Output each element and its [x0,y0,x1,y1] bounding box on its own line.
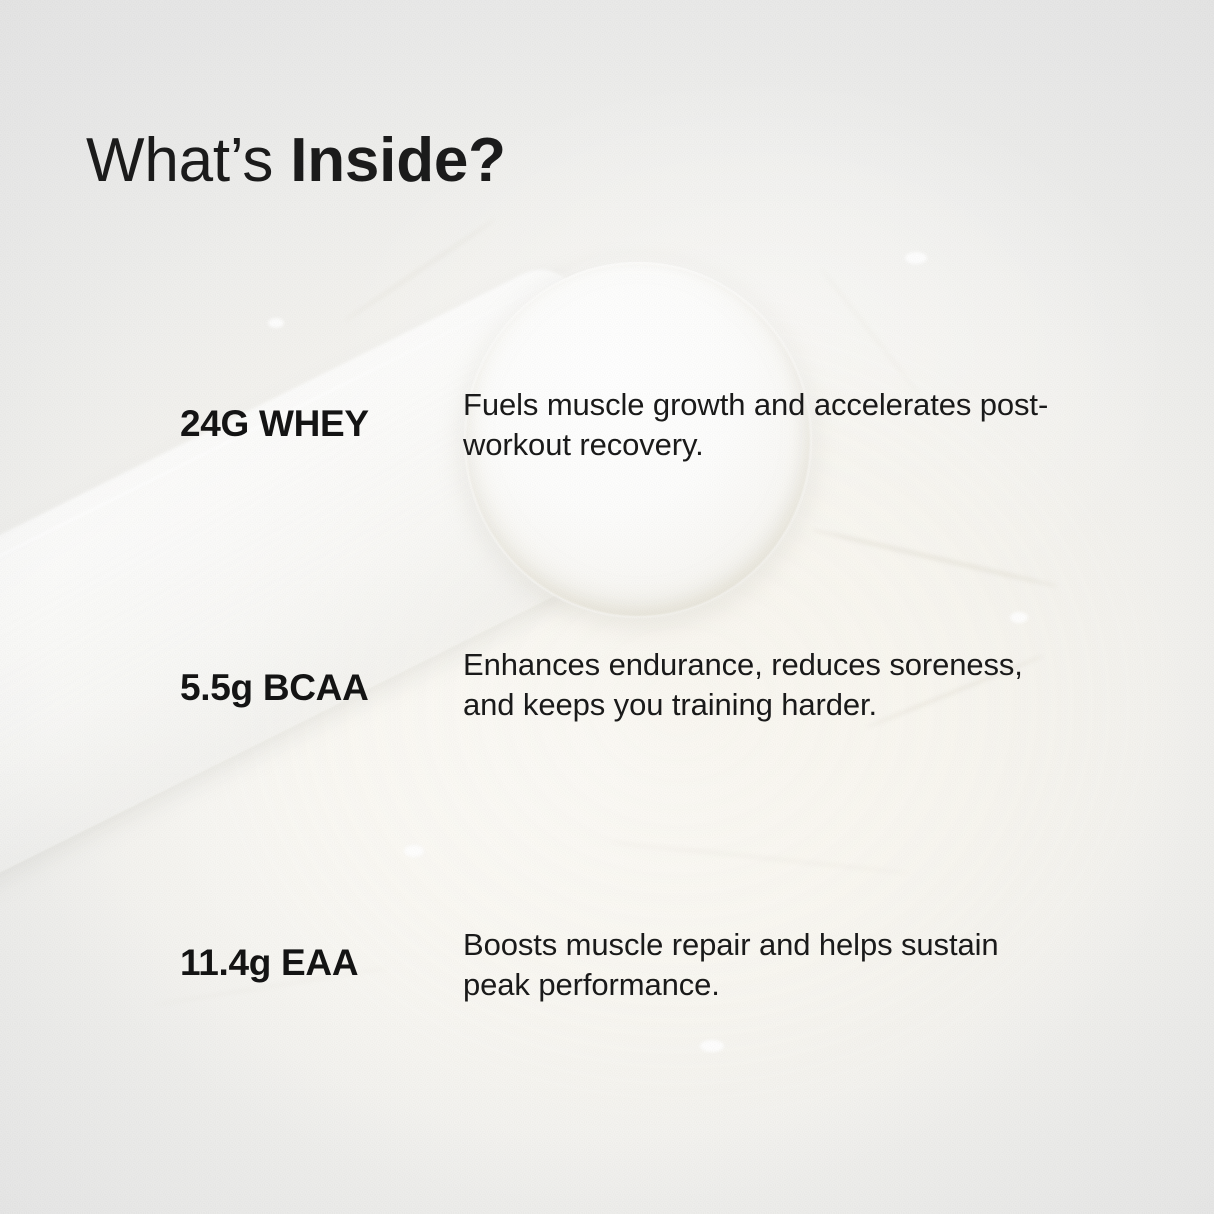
page-title-light-part: What’s [86,126,273,195]
page-title: What’s Inside? [86,128,506,193]
fact-description-bcaa: Enhances endurance, reduces soreness, an… [463,645,1063,724]
page-title-bold-part: Inside? [290,126,506,195]
fact-description-whey: Fuels muscle growth and accelerates post… [463,385,1063,464]
fact-label-whey: 24G WHEY [180,403,450,445]
content-overlay: What’s Inside? 24G WHEY Fuels muscle gro… [0,0,1214,1214]
fact-label-bcaa: 5.5g BCAA [180,667,450,709]
fact-label-eaa: 11.4g EAA [180,942,450,984]
what-is-inside-infographic: What’s Inside? 24G WHEY Fuels muscle gro… [0,0,1214,1214]
fact-description-eaa: Boosts muscle repair and helps sustain p… [463,925,1063,1004]
